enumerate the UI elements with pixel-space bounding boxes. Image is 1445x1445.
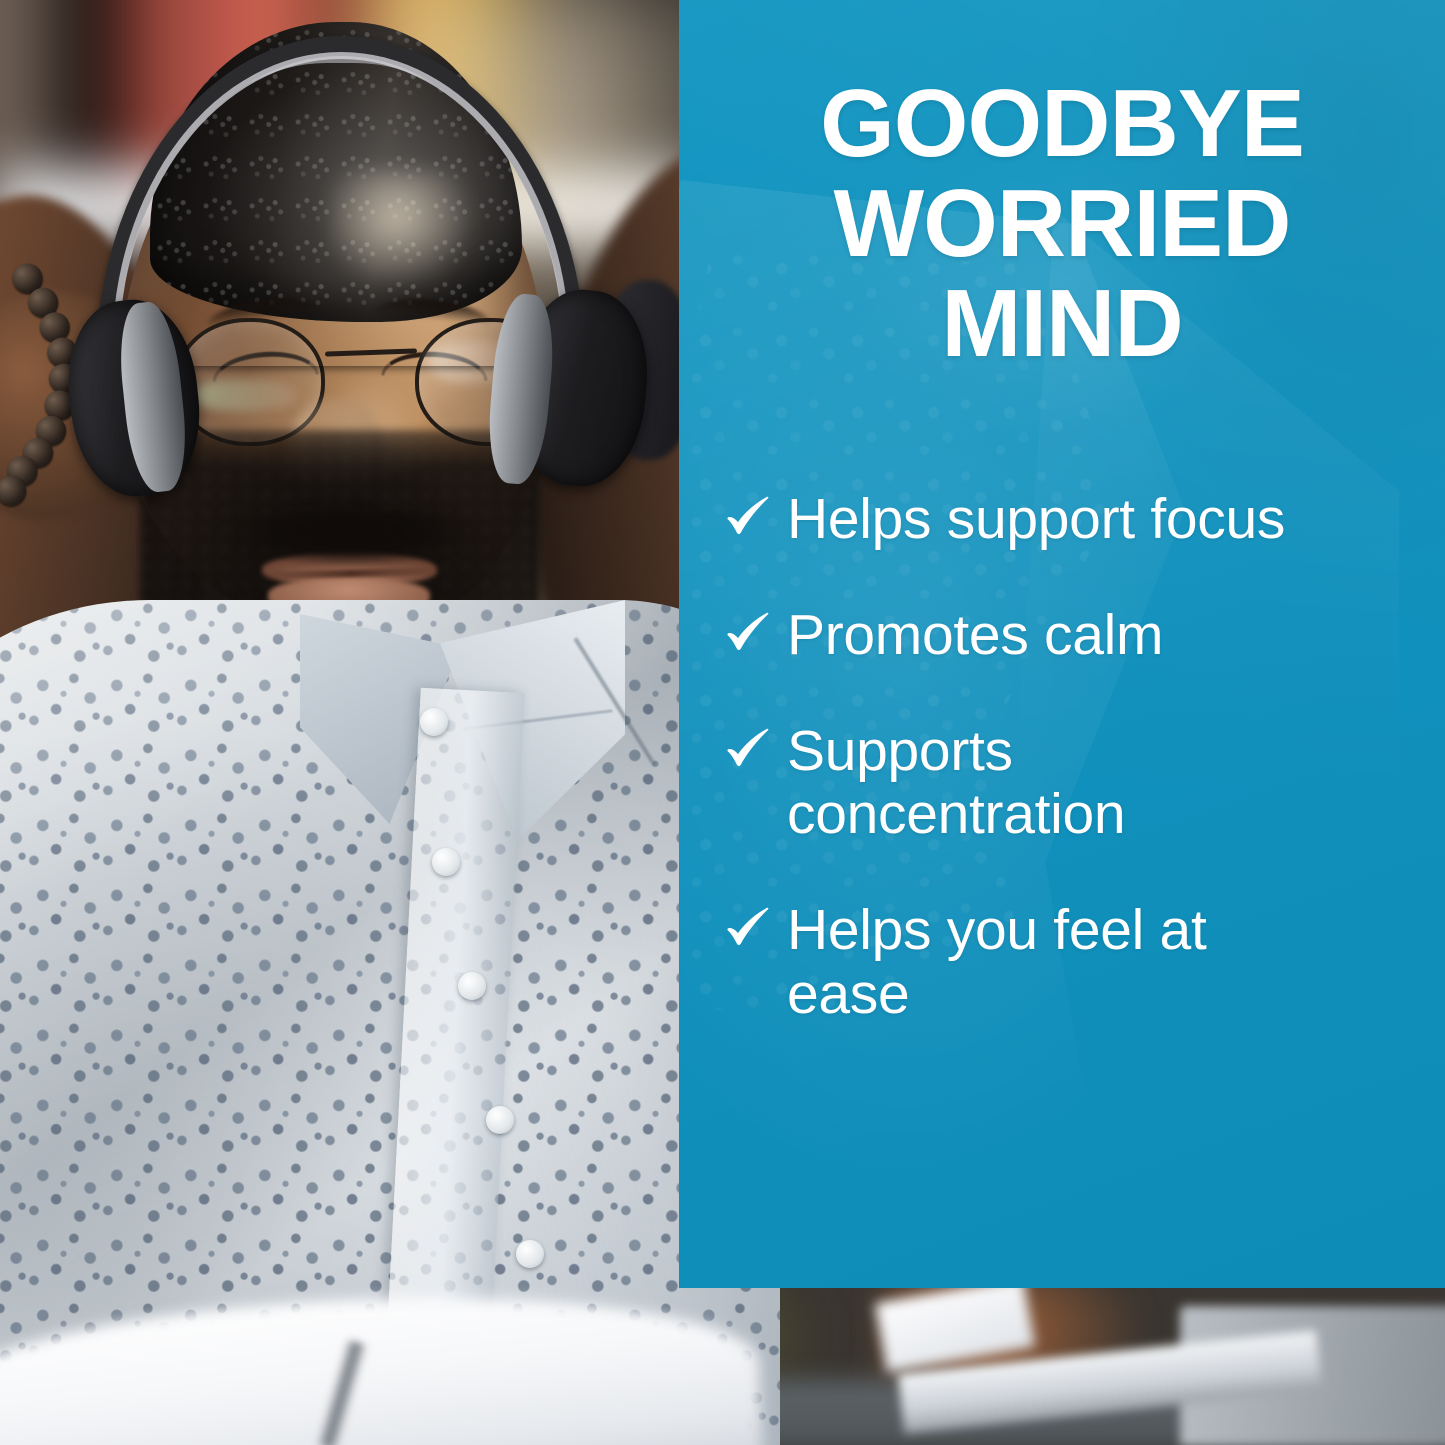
shirt-button bbox=[432, 848, 460, 876]
benefit-item: Supports concentration bbox=[725, 720, 1405, 848]
shirt-button bbox=[458, 972, 486, 1000]
mustache bbox=[232, 510, 468, 566]
check-icon bbox=[725, 903, 787, 949]
headline-line-2: WORRIED bbox=[705, 174, 1419, 274]
benefit-text: Helps you feel at ease bbox=[787, 899, 1307, 1027]
headline-line-1: GOODBYE bbox=[705, 74, 1419, 174]
check-icon bbox=[725, 724, 787, 770]
headline-line-3: MIND bbox=[705, 274, 1419, 374]
benefit-text: Promotes calm bbox=[787, 604, 1163, 668]
shirt-button bbox=[486, 1106, 514, 1134]
headline: GOODBYE WORRIED MIND bbox=[679, 74, 1445, 373]
benefit-item: Promotes calm bbox=[725, 604, 1405, 668]
shirt-button bbox=[516, 1240, 544, 1268]
check-icon bbox=[725, 492, 787, 538]
product-lifestyle-graphic: GOODBYE WORRIED MIND Helps support focus bbox=[0, 0, 1445, 1445]
check-icon bbox=[725, 608, 787, 654]
benefit-text: Helps support focus bbox=[787, 488, 1285, 552]
benefit-text: Supports concentration bbox=[787, 720, 1307, 848]
shirt-button bbox=[420, 708, 448, 736]
teal-content-panel: GOODBYE WORRIED MIND Helps support focus bbox=[679, 0, 1445, 1288]
benefit-item: Helps support focus bbox=[725, 488, 1405, 552]
benefit-item: Helps you feel at ease bbox=[725, 899, 1405, 1027]
benefits-list: Helps support focus Promotes calm Suppor… bbox=[725, 488, 1405, 1027]
